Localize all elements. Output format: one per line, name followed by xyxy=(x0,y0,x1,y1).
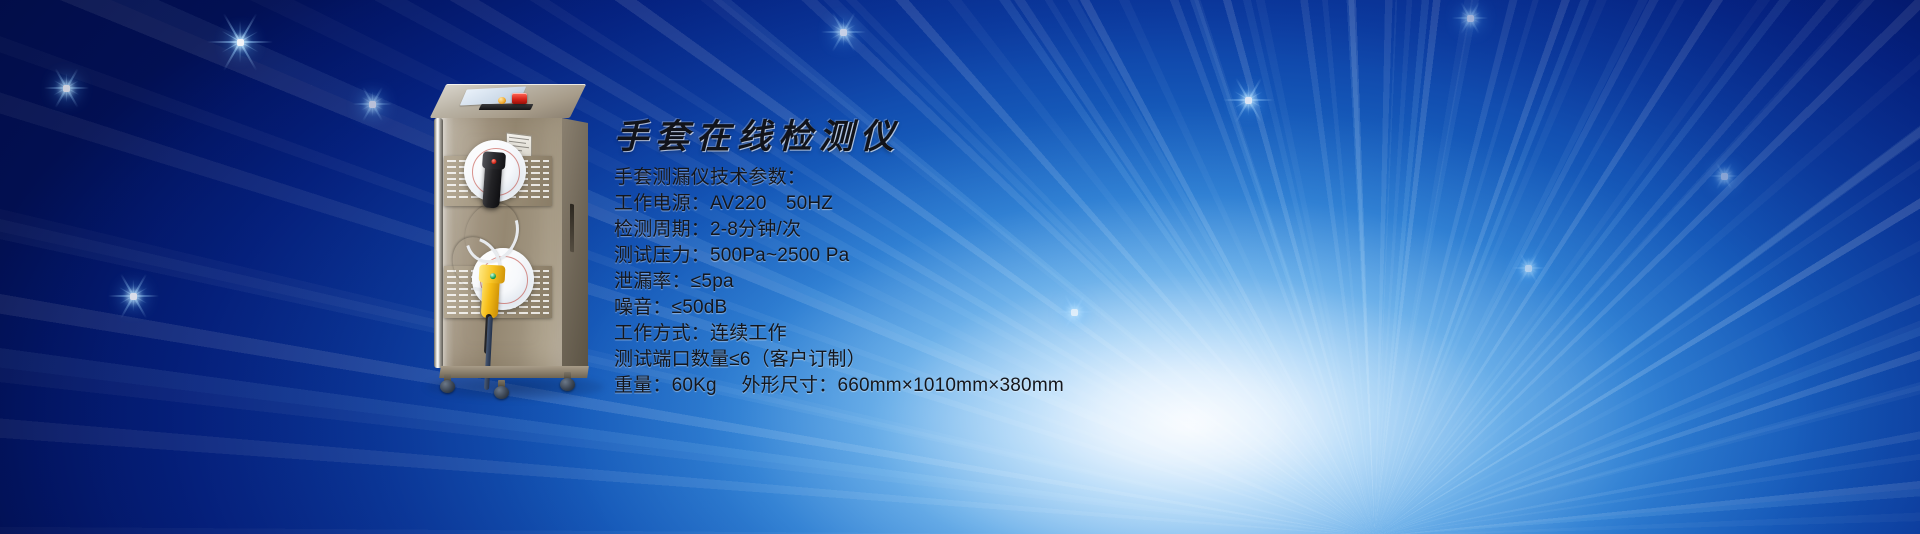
banner-title: 手套在线检测仪 xyxy=(614,118,1314,157)
spec-line-3: 测试压力：500Pa~2500 Pa xyxy=(614,243,1314,269)
black-test-handle xyxy=(482,155,503,208)
spec-line-7: 测试端口数量≤6（客户订制） xyxy=(614,347,1314,373)
emergency-stop-button[interactable] xyxy=(512,93,527,104)
spec-line-5: 噪音：≤50dB xyxy=(614,295,1314,321)
machine-chrome-post xyxy=(434,118,443,368)
spec-line-1: 工作电源：AV220 50HZ xyxy=(614,191,1314,217)
yellow-test-handle xyxy=(481,270,500,319)
caster-wheel-left xyxy=(440,374,455,393)
spec-line-6: 工作方式：连续工作 xyxy=(614,321,1314,347)
promo-banner: 1 2 手套在线检测仪 手套测漏仪技术参数：工作电源：AV220 50H xyxy=(0,0,1920,534)
machine-lid-clamp-bar xyxy=(479,104,534,110)
indicator-lamp-icon xyxy=(498,97,506,104)
spec-line-2: 检测周期：2-8分钟/次 xyxy=(614,217,1314,243)
spec-line-4: 泄漏率：≤5pa xyxy=(614,269,1314,295)
banner-copy-block: 手套在线检测仪 手套测漏仪技术参数：工作电源：AV220 50HZ检测周期：2-… xyxy=(614,118,1314,399)
machine-right-side-panel xyxy=(562,118,588,373)
caster-wheel-center xyxy=(494,380,509,399)
product-image-glove-leak-tester: 1 2 xyxy=(420,84,610,394)
spec-line-8: 重量：60Kg 外形尺寸：660mm×1010mm×380mm xyxy=(614,373,1314,399)
spec-list: 手套测漏仪技术参数：工作电源：AV220 50HZ检测周期：2-8分钟/次测试压… xyxy=(614,165,1314,399)
caster-wheel-right xyxy=(560,372,575,391)
machine-door-seam xyxy=(570,204,574,253)
spec-line-0: 手套测漏仪技术参数： xyxy=(614,165,1314,191)
